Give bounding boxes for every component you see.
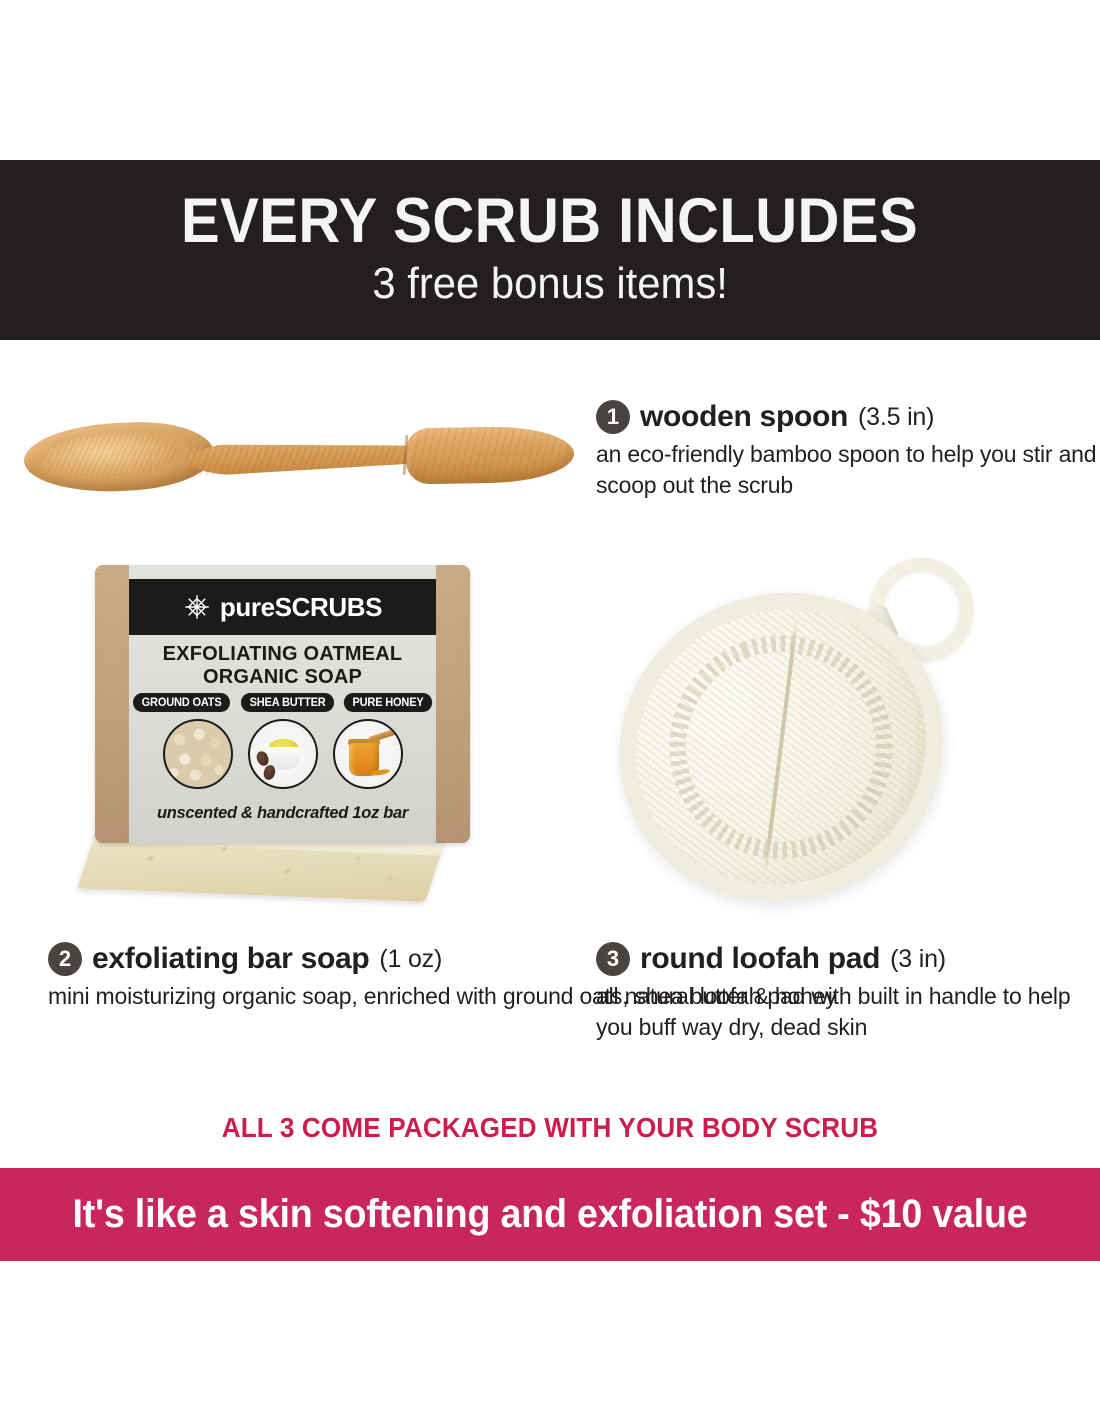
brand-name-label: pureSCRUBS [220, 592, 382, 623]
ingredient-badge-honey: PURE HONEY [343, 693, 431, 712]
item-size-label: (3 in) [890, 945, 946, 974]
wooden-spoon-icon [18, 405, 574, 505]
page-title: EVERY SCRUB INCLUDES [181, 190, 918, 253]
honey-jar-icon [333, 719, 403, 789]
ingredient-badge-shea: SHEA BUTTER [240, 693, 333, 712]
spoon-neck-part [186, 436, 437, 479]
soap-title-line-2: ORGANIC SOAP [129, 666, 436, 689]
item-name-label: wooden spoon [640, 400, 848, 434]
value-banner: It's like a skin softening and exfoliati… [0, 1168, 1100, 1261]
item-name-label: exfoliating bar soap [92, 942, 369, 976]
page-subtitle: 3 free bonus items! [372, 259, 727, 310]
packaged-callout: ALL 3 COME PACKAGED WITH YOUR BODY SCRUB [39, 1112, 1062, 1144]
soap-package-sleeve: pureSCRUBS EXFOLIATING OATMEAL ORGANIC S… [95, 565, 470, 843]
item-size-label: (1 oz) [379, 945, 442, 974]
header-banner: EVERY SCRUB INCLUDES 3 free bonus items! [0, 160, 1100, 340]
loofah-pad-icon [608, 552, 978, 932]
item-size-label: (3.5 in) [858, 403, 934, 432]
item-name-label: round loofah pad [640, 942, 880, 976]
oats-bowl-icon [163, 719, 233, 789]
item-block-wooden-spoon: 1 wooden spoon (3.5 in) an eco-friendly … [596, 400, 1100, 500]
soap-label: pureSCRUBS EXFOLIATING OATMEAL ORGANIC S… [129, 565, 436, 843]
item-heading: 1 wooden spoon (3.5 in) [596, 400, 1100, 434]
soap-label-footer: unscented & handcrafted 1oz bar [129, 804, 436, 823]
item-description: all natural loofah pad with built in han… [596, 981, 1100, 1042]
item-block-loofah-pad: 3 round loofah pad (3 in) all natural lo… [596, 942, 1100, 1042]
soap-product-title: EXFOLIATING OATMEAL ORGANIC SOAP [129, 643, 436, 689]
item-heading: 3 round loofah pad (3 in) [596, 942, 1100, 976]
brand-header: pureSCRUBS [129, 579, 436, 635]
soap-title-line-1: EXFOLIATING OATMEAL [129, 643, 436, 666]
ingredient-badges: GROUND OATS SHEA BUTTER PURE HONEY [129, 693, 436, 712]
ingredient-photos [129, 719, 436, 789]
snowflake-icon [183, 593, 211, 621]
bar-soap-icon: pureSCRUBS EXFOLIATING OATMEAL ORGANIC S… [85, 565, 485, 915]
shea-butter-bowl-icon [248, 719, 318, 789]
ingredient-badge-oats: GROUND OATS [133, 693, 230, 712]
item-description: an eco-friendly bamboo spoon to help you… [596, 439, 1100, 500]
item-number-badge: 2 [48, 942, 82, 976]
spoon-handle-part [406, 426, 575, 485]
item-number-badge: 1 [596, 400, 630, 434]
item-number-badge: 3 [596, 942, 630, 976]
value-banner-text: It's like a skin softening and exfoliati… [72, 1192, 1027, 1237]
